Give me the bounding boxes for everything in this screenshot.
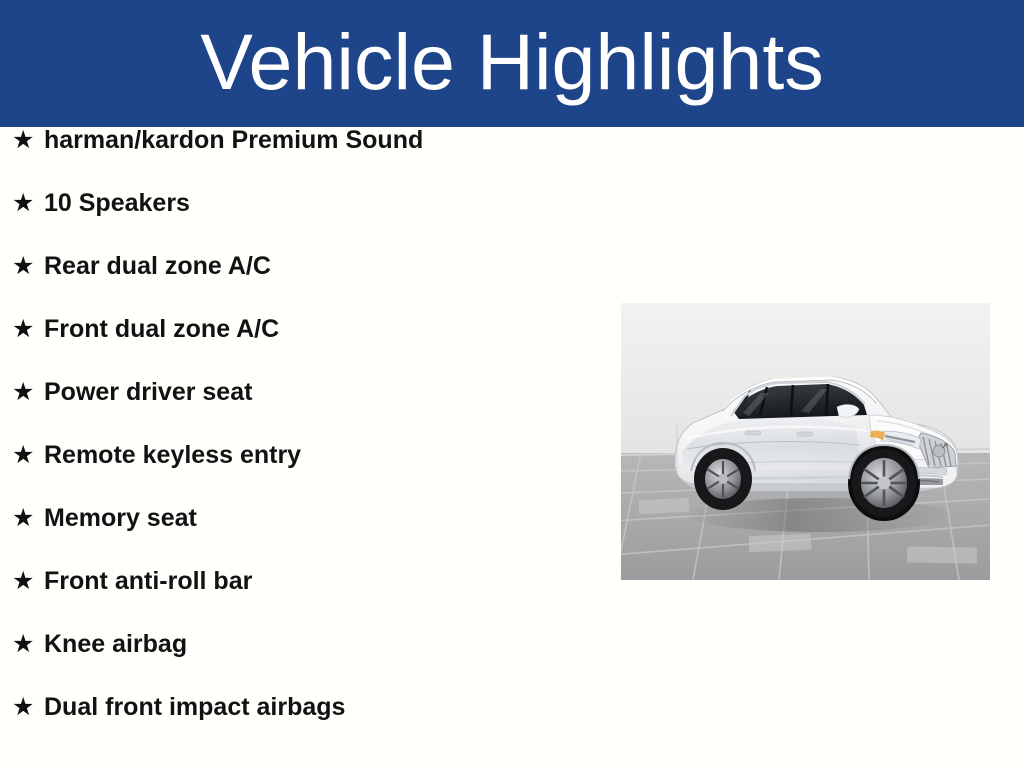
star-bullet-icon: ★ bbox=[12, 631, 44, 656]
list-item: ★ Rear dual zone A/C bbox=[0, 253, 600, 316]
star-bullet-icon: ★ bbox=[12, 127, 44, 152]
star-bullet-icon: ★ bbox=[12, 253, 44, 278]
star-bullet-icon: ★ bbox=[12, 190, 44, 215]
star-bullet-icon: ★ bbox=[12, 694, 44, 719]
list-item-label: Dual front impact airbags bbox=[44, 695, 345, 720]
star-bullet-icon: ★ bbox=[12, 379, 44, 404]
list-item: ★ Front dual zone A/C bbox=[0, 316, 600, 379]
list-item-label: Memory seat bbox=[44, 506, 197, 531]
list-item: ★ Dual front impact airbags bbox=[0, 694, 600, 757]
list-item: ★ Memory seat bbox=[0, 505, 600, 568]
page-title: Vehicle Highlights bbox=[200, 22, 824, 101]
list-item: ★ Power driver seat bbox=[0, 379, 600, 442]
list-item-label: Power driver seat bbox=[44, 380, 252, 405]
list-item: ★ Knee airbag bbox=[0, 631, 600, 694]
star-bullet-icon: ★ bbox=[12, 442, 44, 467]
list-item: ★ Front anti-roll bar bbox=[0, 568, 600, 631]
star-bullet-icon: ★ bbox=[12, 505, 44, 530]
star-bullet-icon: ★ bbox=[12, 568, 44, 593]
list-item-label: Rear dual zone A/C bbox=[44, 254, 271, 279]
list-item-label: Front anti-roll bar bbox=[44, 569, 252, 594]
vehicle-photo-illustration bbox=[621, 303, 990, 580]
list-item-label: 10 Speakers bbox=[44, 191, 190, 216]
list-item-label: Remote keyless entry bbox=[44, 443, 301, 468]
list-item: ★ Remote keyless entry bbox=[0, 442, 600, 505]
star-bullet-icon: ★ bbox=[12, 316, 44, 341]
list-item: ★ 10 Speakers bbox=[0, 190, 600, 253]
list-item-label: Front dual zone A/C bbox=[44, 317, 279, 342]
header-banner: Vehicle Highlights bbox=[0, 0, 1024, 127]
list-item-label: harman/kardon Premium Sound bbox=[44, 128, 423, 153]
vehicle-highlights-list: ★ harman/kardon Premium Sound ★ 10 Speak… bbox=[0, 127, 600, 757]
list-item: ★ harman/kardon Premium Sound bbox=[0, 127, 600, 190]
list-item-label: Knee airbag bbox=[44, 632, 187, 657]
vehicle-photo bbox=[621, 303, 990, 580]
